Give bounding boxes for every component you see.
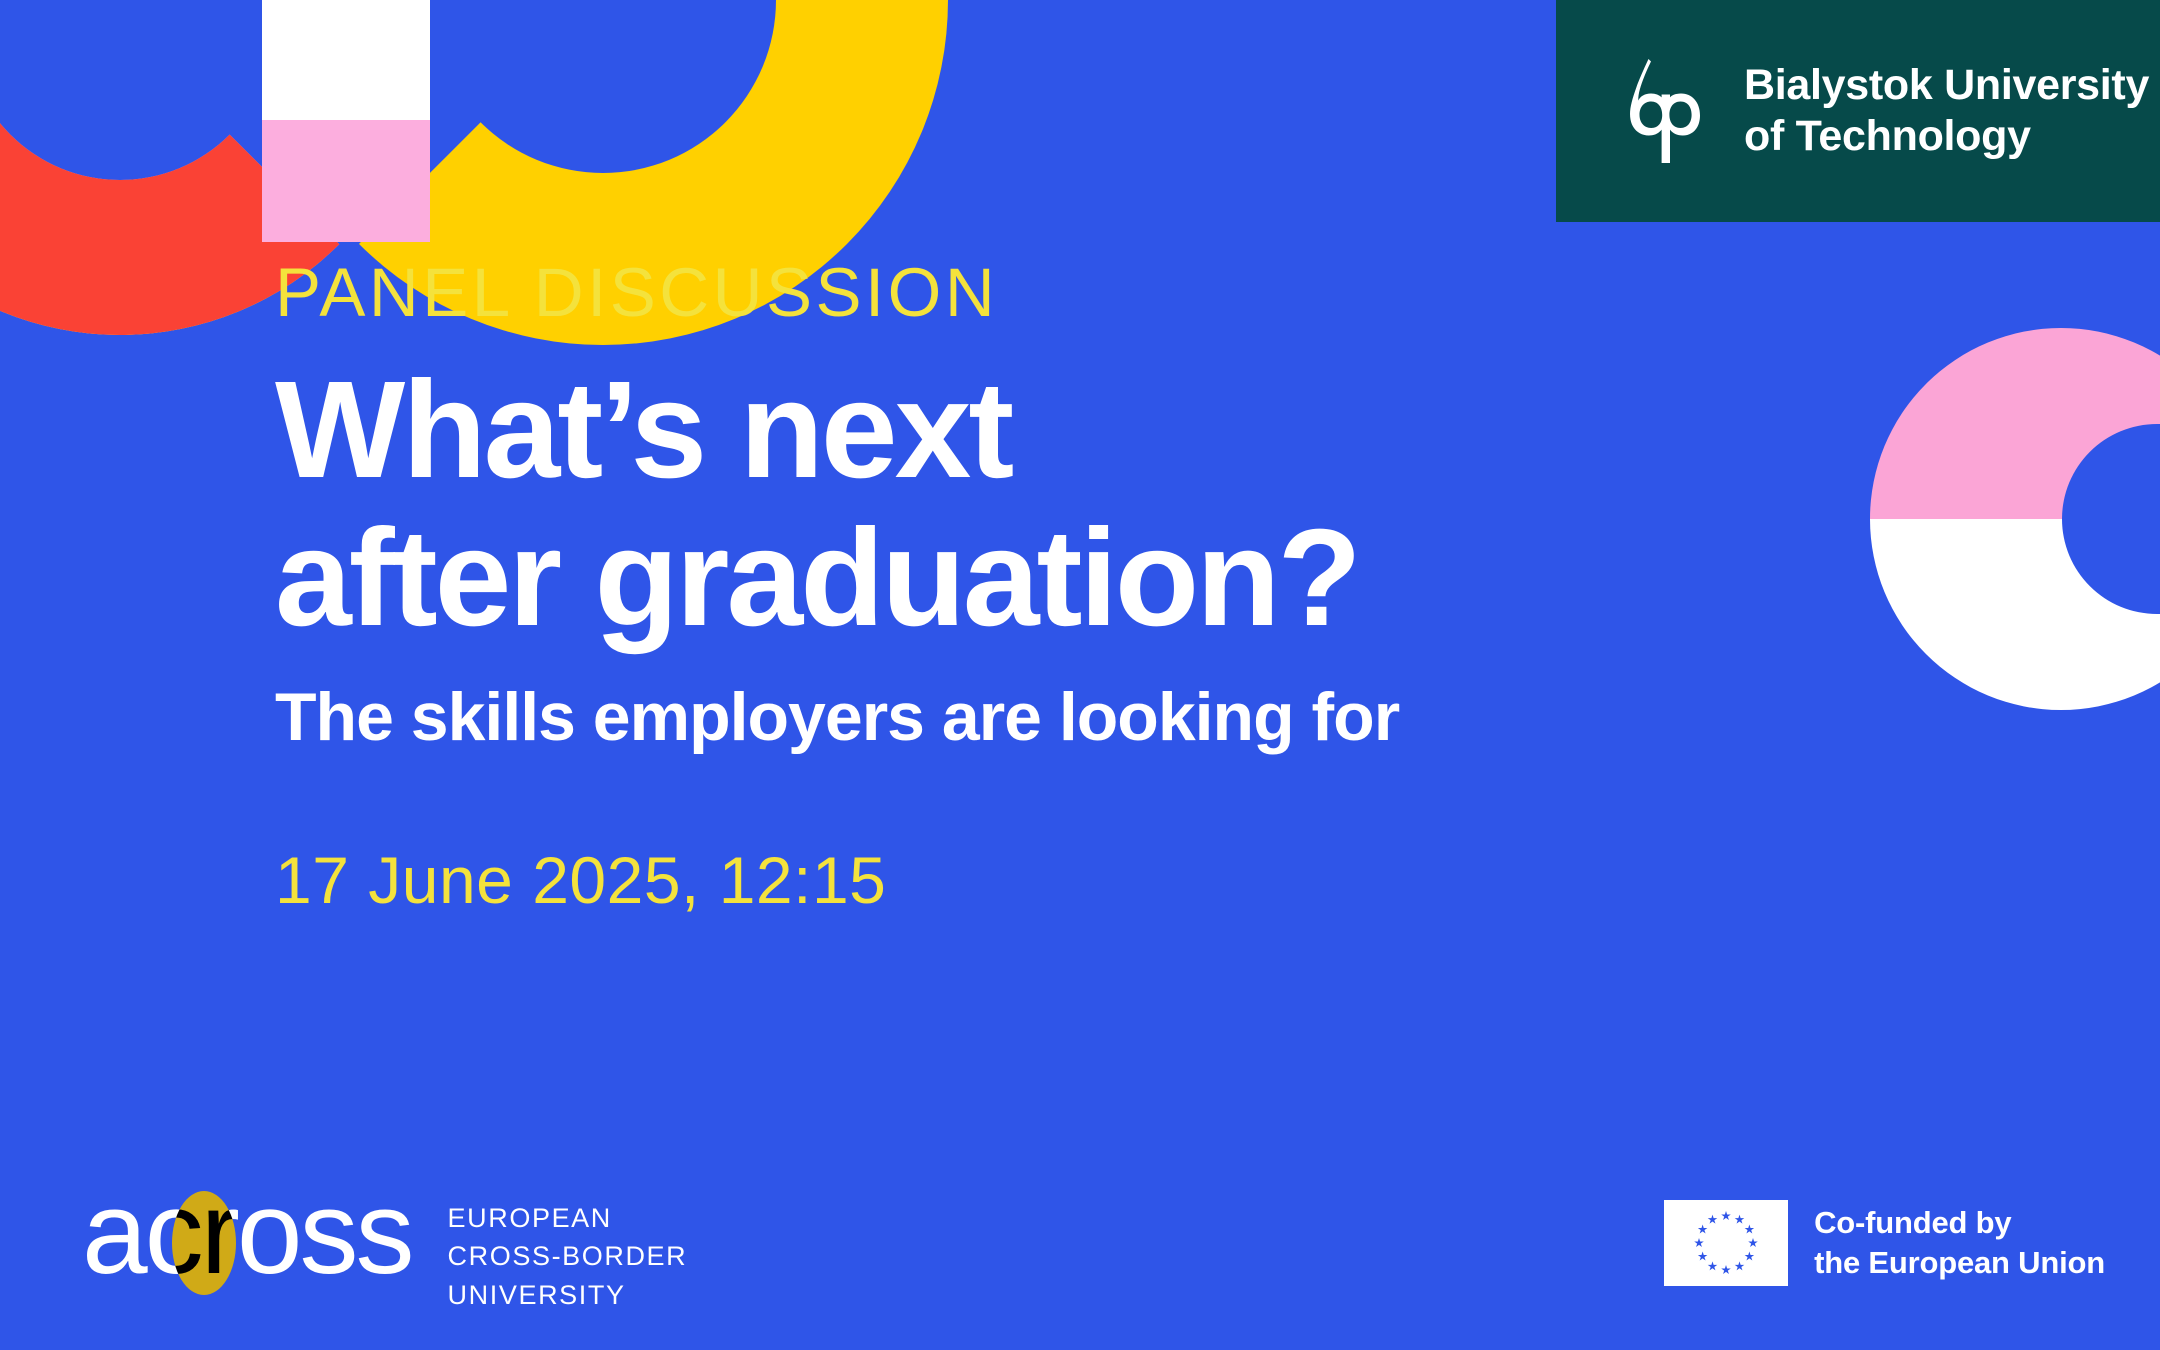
white-rectangle-shape xyxy=(262,0,430,120)
across-wordmark: across xyxy=(82,1185,412,1282)
pink-rectangle-shape xyxy=(262,120,430,242)
across-tagline-line3: UNIVERSITY xyxy=(448,1276,688,1314)
headline-line1: What’s next xyxy=(275,357,1399,505)
headline-line2: after graduation? xyxy=(275,505,1399,653)
headline: What’s next after graduation? xyxy=(275,357,1399,652)
university-name-line1: Bialystok University xyxy=(1744,60,2149,111)
university-name: Bialystok University of Technology xyxy=(1744,60,2149,161)
across-wordmark-group: across xyxy=(82,1185,412,1282)
bialystok-university-monogram-icon xyxy=(1618,57,1704,165)
across-tagline: EUROPEAN CROSS-BORDER UNIVERSITY xyxy=(448,1199,688,1314)
eu-funding-line2: the European Union xyxy=(1814,1243,2105,1283)
kicker-label: PANEL DISCUSSION xyxy=(275,258,1399,327)
content-block: PANEL DISCUSSION What’s next after gradu… xyxy=(275,258,1399,918)
eu-stars-icon xyxy=(1664,1200,1788,1286)
poster-canvas: Bialystok University of Technology PANEL… xyxy=(0,0,2160,1350)
across-lens-icon xyxy=(172,1191,236,1295)
eu-funding-text: Co-funded by the European Union xyxy=(1814,1203,2105,1284)
eu-flag-icon xyxy=(1664,1200,1788,1286)
across-logo: across EUROPEAN CROSS-BORDER UNIVERSITY xyxy=(82,1185,687,1314)
eu-funding-badge: Co-funded by the European Union xyxy=(1664,1200,2105,1286)
subtitle: The skills employers are looking for xyxy=(275,678,1399,756)
across-tagline-line1: EUROPEAN xyxy=(448,1199,688,1237)
university-banner: Bialystok University of Technology xyxy=(1556,0,2160,222)
across-tagline-line2: CROSS-BORDER xyxy=(448,1237,688,1275)
eu-funding-line1: Co-funded by xyxy=(1814,1203,2105,1243)
university-name-line2: of Technology xyxy=(1744,111,2149,162)
event-datetime: 17 June 2025, 12:15 xyxy=(275,842,1399,918)
